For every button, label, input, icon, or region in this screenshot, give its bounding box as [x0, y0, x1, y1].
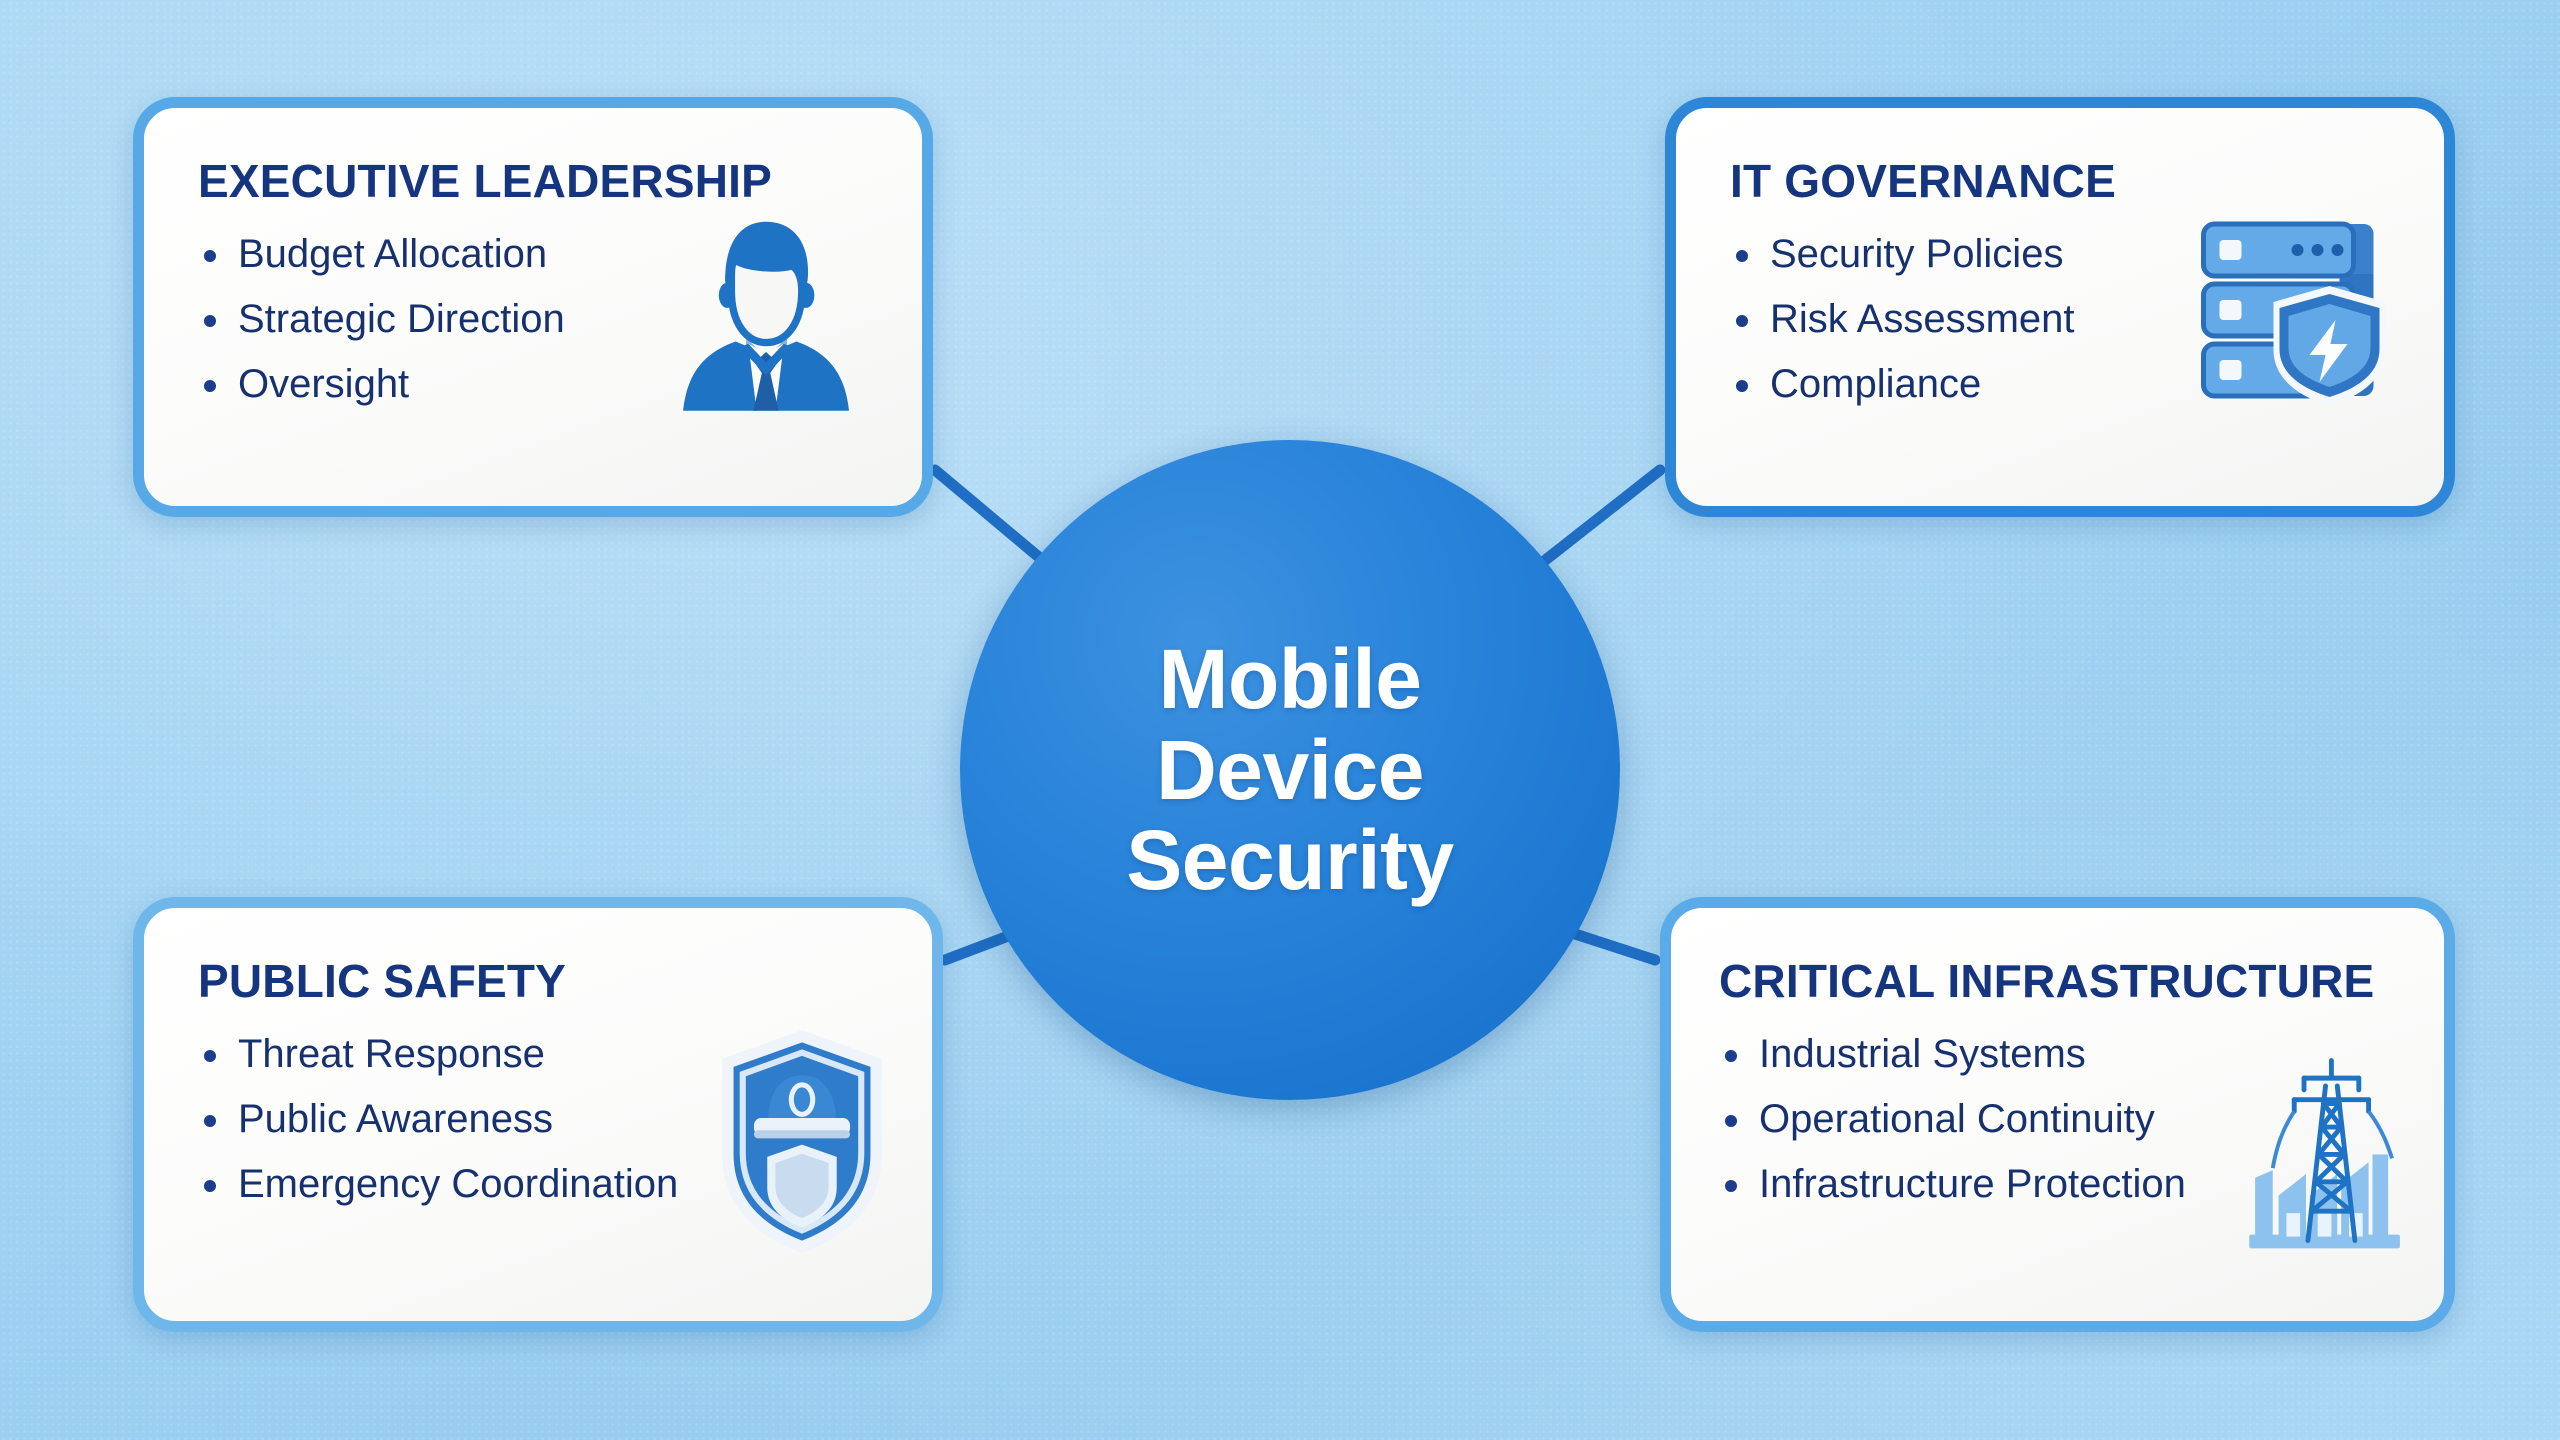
list-item: Oversight	[198, 364, 654, 404]
bullet-list-public-safety: Threat Response Public Awareness Emergen…	[198, 1034, 702, 1204]
card-body: IT GOVERNANCE Security Policies Risk Ass…	[1730, 154, 2181, 466]
card-body: EXECUTIVE LEADERSHIP Budget Allocation S…	[198, 154, 654, 466]
list-item: Budget Allocation	[198, 234, 654, 274]
bullet-list-it-governance: Security Policies Risk Assessment Compli…	[1730, 234, 2181, 404]
bullet-list-critical-infrastructure: Industrial Systems Operational Continuit…	[1719, 1034, 2235, 1204]
card-title-critical-infrastructure: CRITICAL INFRASTRUCTURE	[1719, 954, 2235, 1008]
power-tower-factory-icon	[2235, 1039, 2420, 1264]
list-item: Infrastructure Protection	[1719, 1164, 2235, 1204]
list-item: Emergency Coordination	[198, 1164, 702, 1204]
list-item: Operational Continuity	[1719, 1099, 2235, 1139]
businessman-icon	[660, 205, 870, 415]
card-body: PUBLIC SAFETY Threat Response Public Awa…	[198, 954, 702, 1281]
list-item: Strategic Direction	[198, 299, 654, 339]
card-critical-infrastructure[interactable]: CRITICAL INFRASTRUCTURE Industrial Syste…	[1660, 897, 2455, 1332]
card-body: CRITICAL INFRASTRUCTURE Industrial Syste…	[1719, 954, 2235, 1281]
card-public-safety[interactable]: PUBLIC SAFETY Threat Response Public Awa…	[133, 897, 943, 1332]
bullet-list-executive-leadership: Budget Allocation Strategic Direction Ov…	[198, 234, 654, 404]
server-shield-icon	[2187, 210, 2402, 410]
list-item: Public Awareness	[198, 1099, 702, 1139]
card-title-executive-leadership: EXECUTIVE LEADERSHIP	[198, 154, 654, 208]
police-shield-icon	[702, 1024, 902, 1259]
card-title-public-safety: PUBLIC SAFETY	[198, 954, 702, 1008]
list-item: Risk Assessment	[1730, 299, 2181, 339]
card-executive-leadership[interactable]: EXECUTIVE LEADERSHIP Budget Allocation S…	[133, 97, 933, 517]
list-item: Threat Response	[198, 1034, 702, 1074]
list-item: Industrial Systems	[1719, 1034, 2235, 1074]
card-title-it-governance: IT GOVERNANCE	[1730, 154, 2181, 208]
card-it-governance[interactable]: IT GOVERNANCE Security Policies Risk Ass…	[1665, 97, 2455, 517]
list-item: Security Policies	[1730, 234, 2181, 274]
list-item: Compliance	[1730, 364, 2181, 404]
hub-title: Mobile Device Security	[1102, 634, 1478, 906]
center-hub[interactable]: Mobile Device Security	[960, 440, 1620, 1100]
diagram-canvas: Mobile Device Security EXECUTIVE LEADERS…	[0, 0, 2560, 1440]
